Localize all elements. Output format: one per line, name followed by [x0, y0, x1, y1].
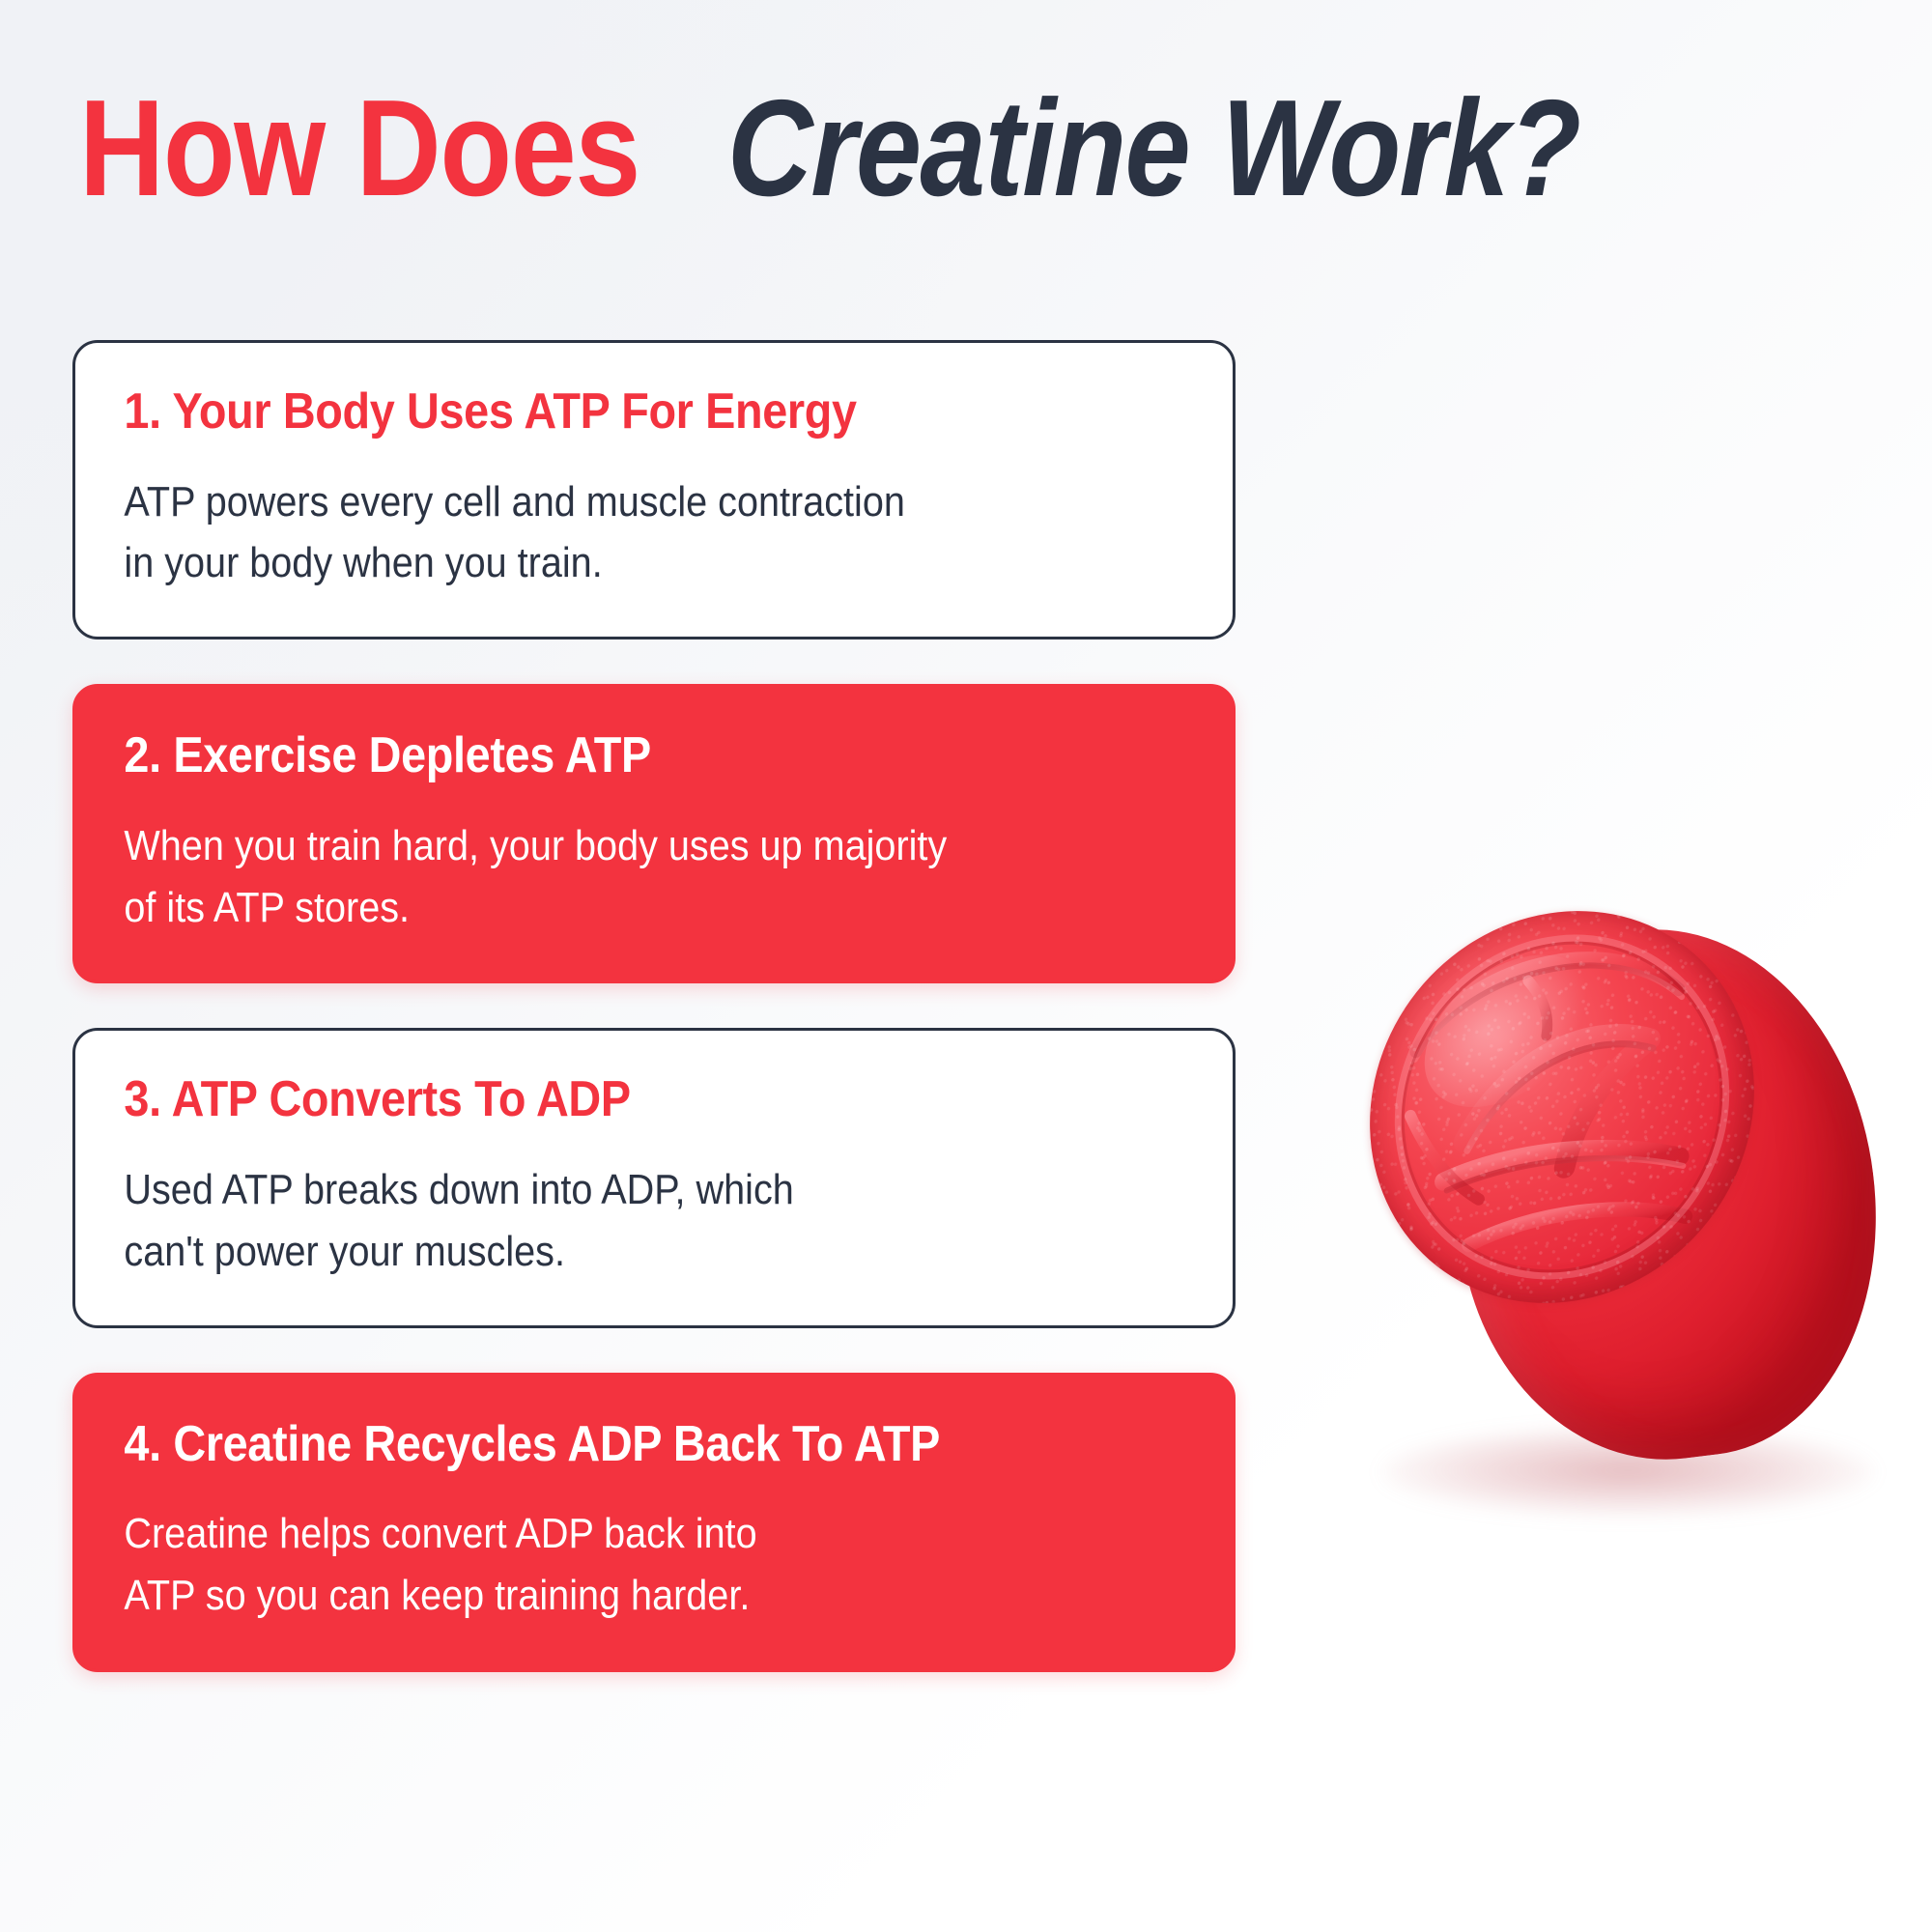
step-card-4-heading: 4. Creatine Recycles ADP Back To ATP: [75, 1418, 1117, 1471]
step-card-4-body: Creatine helps convert ADP back into ATP…: [75, 1503, 1117, 1627]
gummy-top-face: [1348, 875, 1776, 1340]
page-title: How Does Creatine Work?: [79, 70, 1866, 214]
step-card-2-heading: 2. Exercise Depletes ATP: [75, 729, 1117, 782]
gummy-logo-emboss-icon: [1348, 875, 1776, 1340]
step-card-3-heading: 3. ATP Converts To ADP: [75, 1073, 1117, 1126]
gummy-body: [1364, 908, 1886, 1478]
step-card-1-heading: 1. Your Body Uses ATP For Energy: [75, 385, 1117, 439]
step-card-3: 3. ATP Converts To ADP Used ATP breaks d…: [72, 1028, 1236, 1327]
step-card-3-body: Used ATP breaks down into ADP, which can…: [75, 1159, 1117, 1283]
step-card-4: 4. Creatine Recycles ADP Back To ATP Cre…: [72, 1373, 1236, 1672]
product-image-creatine-gummy: [1343, 908, 1913, 1526]
step-card-1-body: ATP powers every cell and muscle contrac…: [75, 471, 1117, 595]
page-title-highlight: How Does: [79, 83, 639, 214]
step-card-1: 1. Your Body Uses ATP For Energy ATP pow…: [72, 340, 1236, 639]
step-card-2: 2. Exercise Depletes ATP When you train …: [72, 684, 1236, 983]
step-card-2-body: When you train hard, your body uses up m…: [75, 815, 1117, 939]
steps-list: 1. Your Body Uses ATP For Energy ATP pow…: [72, 340, 1236, 1717]
page-title-rest: Creatine Work?: [726, 83, 1580, 214]
